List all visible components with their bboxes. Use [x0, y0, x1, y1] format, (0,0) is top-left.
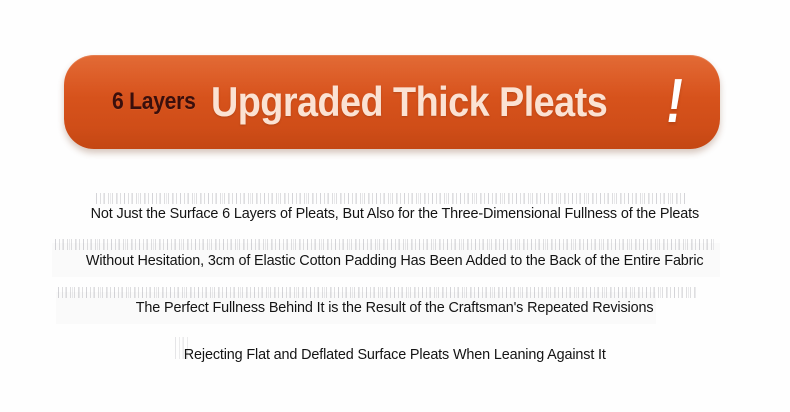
- exclamation-icon: !: [667, 71, 694, 133]
- headline-banner-content: 6 Layers Upgraded Thick Pleats !: [64, 55, 720, 149]
- feature-line: Rejecting Flat and Deflated Surface Plea…: [0, 331, 790, 378]
- feature-line: Without Hesitation, 3cm of Elastic Cotto…: [0, 237, 790, 284]
- feature-line: The Perfect Fullness Behind It is the Re…: [0, 284, 790, 331]
- scan-noise-artifact: [55, 239, 715, 250]
- feature-line-text: Rejecting Flat and Deflated Surface Plea…: [184, 346, 606, 364]
- headline-banner: 6 Layers Upgraded Thick Pleats !: [64, 55, 720, 149]
- promo-banner-page: 6 Layers Upgraded Thick Pleats ! Not Jus…: [0, 0, 790, 412]
- feature-line-text: The Perfect Fullness Behind It is the Re…: [136, 299, 654, 317]
- layers-badge-label: 6 Layers: [112, 90, 196, 114]
- scan-noise-artifact: [96, 193, 686, 204]
- feature-line-text: Without Hesitation, 3cm of Elastic Cotto…: [86, 252, 704, 270]
- feature-line-text: Not Just the Surface 6 Layers of Pleats,…: [91, 205, 699, 223]
- scan-noise-artifact: [58, 287, 698, 298]
- feature-line: Not Just the Surface 6 Layers of Pleats,…: [0, 190, 790, 237]
- headline-title: Upgraded Thick Pleats: [211, 81, 607, 123]
- feature-list: Not Just the Surface 6 Layers of Pleats,…: [0, 190, 790, 378]
